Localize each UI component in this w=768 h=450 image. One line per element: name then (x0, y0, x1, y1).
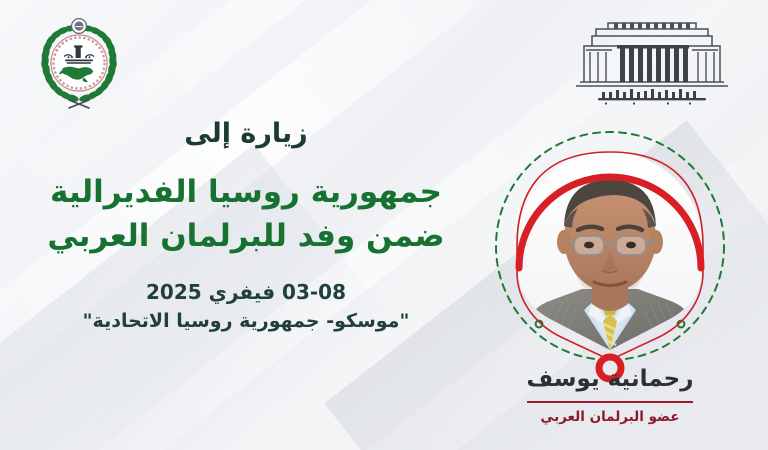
portrait (487, 128, 733, 374)
arab-parliament-emblem-icon (33, 16, 125, 110)
event-meta: 03-08 فيفري 2025 "موسكو- جمهورية روسيا ا… (0, 279, 492, 336)
name-separator (527, 401, 693, 403)
announcement-text-block: زيارة إلى جمهورية روسيا الفديرالية ضمن و… (0, 118, 492, 336)
person-name-plate: رحمانية يوسف عضو البرلمان العربي (487, 366, 733, 426)
person-title: عضو البرلمان العربي (487, 409, 733, 427)
headline-line-2: ضمن وفد للبرلمان العربي (12, 214, 480, 258)
announcement-card: زيارة إلى جمهورية روسيا الفديرالية ضمن و… (0, 0, 768, 450)
headline-line-1: جمهورية روسيا الفديرالية (50, 174, 442, 210)
kicker-text: زيارة إلى (0, 118, 492, 150)
event-place: "موسكو- جمهورية روسيا الاتحادية" (0, 308, 492, 336)
event-date: 03-08 فيفري 2025 (0, 279, 492, 306)
headline: جمهورية روسيا الفديرالية ضمن وفد للبرلما… (0, 170, 492, 258)
portrait-red-ring (487, 128, 733, 374)
person-name: رحمانية يوسف (487, 366, 733, 394)
algerian-national-assembly-logo-icon (562, 12, 742, 110)
